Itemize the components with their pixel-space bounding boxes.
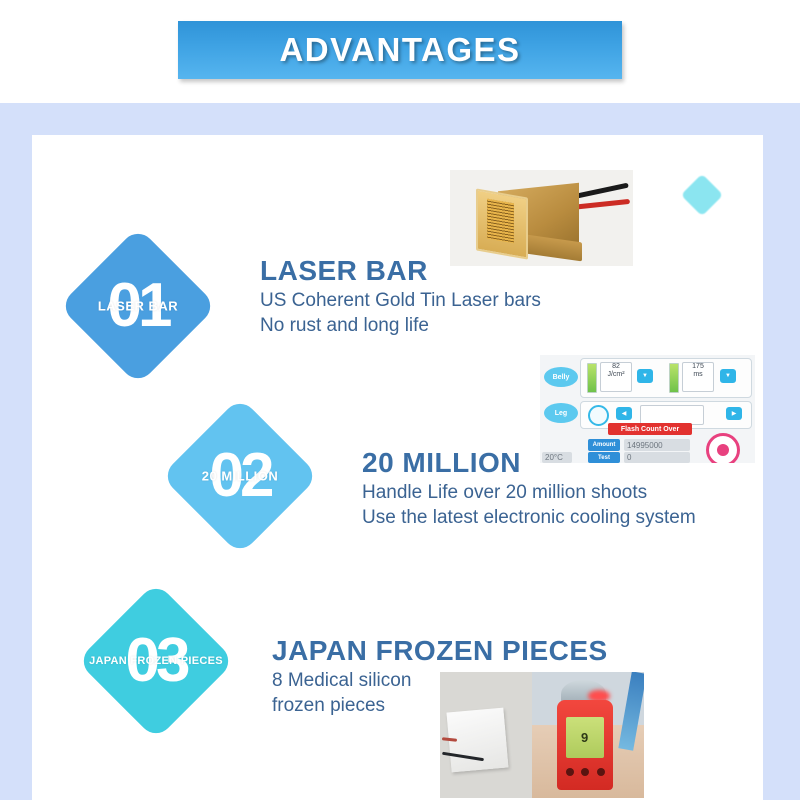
panel-stop-inner-icon [717, 444, 729, 456]
panel-test-value: 0 [624, 452, 690, 463]
infrared-thermometer-photo: 9 [532, 672, 644, 798]
feature-line-02-2: Use the latest electronic cooling system [362, 507, 696, 529]
feature-line-01-1: US Coherent Gold Tin Laser bars [260, 290, 541, 312]
panel-pulse-gauge [669, 363, 679, 393]
panel-energy-unit: J/cm² [601, 371, 631, 379]
feature-line-01-2: No rust and long life [260, 315, 429, 337]
panel-energy-gauge [587, 363, 597, 393]
thermometer-button-left[interactable] [566, 768, 574, 776]
panel-pulse-unit: ms [683, 371, 713, 379]
panel-stop-button[interactable] [706, 433, 740, 463]
laser-bar-red-wire [571, 199, 630, 210]
laser-bar-module-photo [450, 170, 633, 266]
panel-pulse-down-button[interactable]: ▼ [720, 369, 736, 383]
panel-pulse-value: 175 [683, 363, 713, 371]
panel-leg-button[interactable]: Leg [544, 403, 578, 423]
feature-line-03-2: frozen pieces [272, 695, 385, 717]
panel-belly-button[interactable]: Belly [544, 367, 578, 387]
control-panel-photo: Belly 82 J/cm² ▼ 175 ms ▼ Leg ◀ [540, 355, 755, 463]
feature-title-03: JAPAN FROZEN PIECES [272, 635, 608, 667]
page-title: ADVANTAGES [279, 31, 520, 69]
panel-energy-value: 82 [601, 363, 631, 371]
feature-badge-caption-01: LASER BAR [98, 299, 178, 314]
feature-title-01: LASER BAR [260, 255, 428, 287]
panel-energy-down-button[interactable]: ▼ [637, 369, 653, 383]
frozen-piece-photo [440, 672, 532, 798]
header-zone: ADVANTAGES [0, 0, 800, 103]
decorative-diamond-icon [681, 174, 723, 216]
feature-line-03-1: 8 Medical silicon [272, 670, 411, 692]
panel-mode-display [640, 405, 704, 425]
panel-amount-tag: Amount [588, 439, 620, 451]
panel-flash-count-alert: Flash Count Over [608, 423, 692, 435]
panel-pulse-readout: 175 ms [682, 362, 714, 392]
panel-fan-icon [588, 405, 609, 426]
panel-prev-button[interactable]: ◀ [616, 407, 632, 420]
page-title-banner: ADVANTAGES [178, 21, 622, 79]
content-card: 01 LASER BAR LASER BAR US Coherent Gold … [32, 135, 763, 800]
feature-line-02-1: Handle Life over 20 million shoots [362, 482, 647, 504]
thermometer-button-right[interactable] [597, 768, 605, 776]
panel-energy-readout: 82 J/cm² [600, 362, 632, 392]
feature-badge-caption-02: 20 MILLION [202, 469, 279, 484]
laser-bar-emitter-stripes [487, 198, 514, 243]
thermometer-button-mid[interactable] [581, 768, 589, 776]
panel-temperature-value: 20°C [542, 452, 572, 463]
panel-next-button[interactable]: ▶ [726, 407, 742, 420]
panel-test-tag: Test [588, 452, 620, 463]
feature-title-02: 20 MILLION [362, 447, 521, 479]
thermometer-display: 9 [566, 717, 604, 757]
page-frame: 01 LASER BAR LASER BAR US Coherent Gold … [0, 103, 800, 800]
panel-amount-value: 14995000 [624, 439, 690, 451]
feature-badge-caption-03: JAPAN FROZEN PIECES [89, 655, 223, 667]
